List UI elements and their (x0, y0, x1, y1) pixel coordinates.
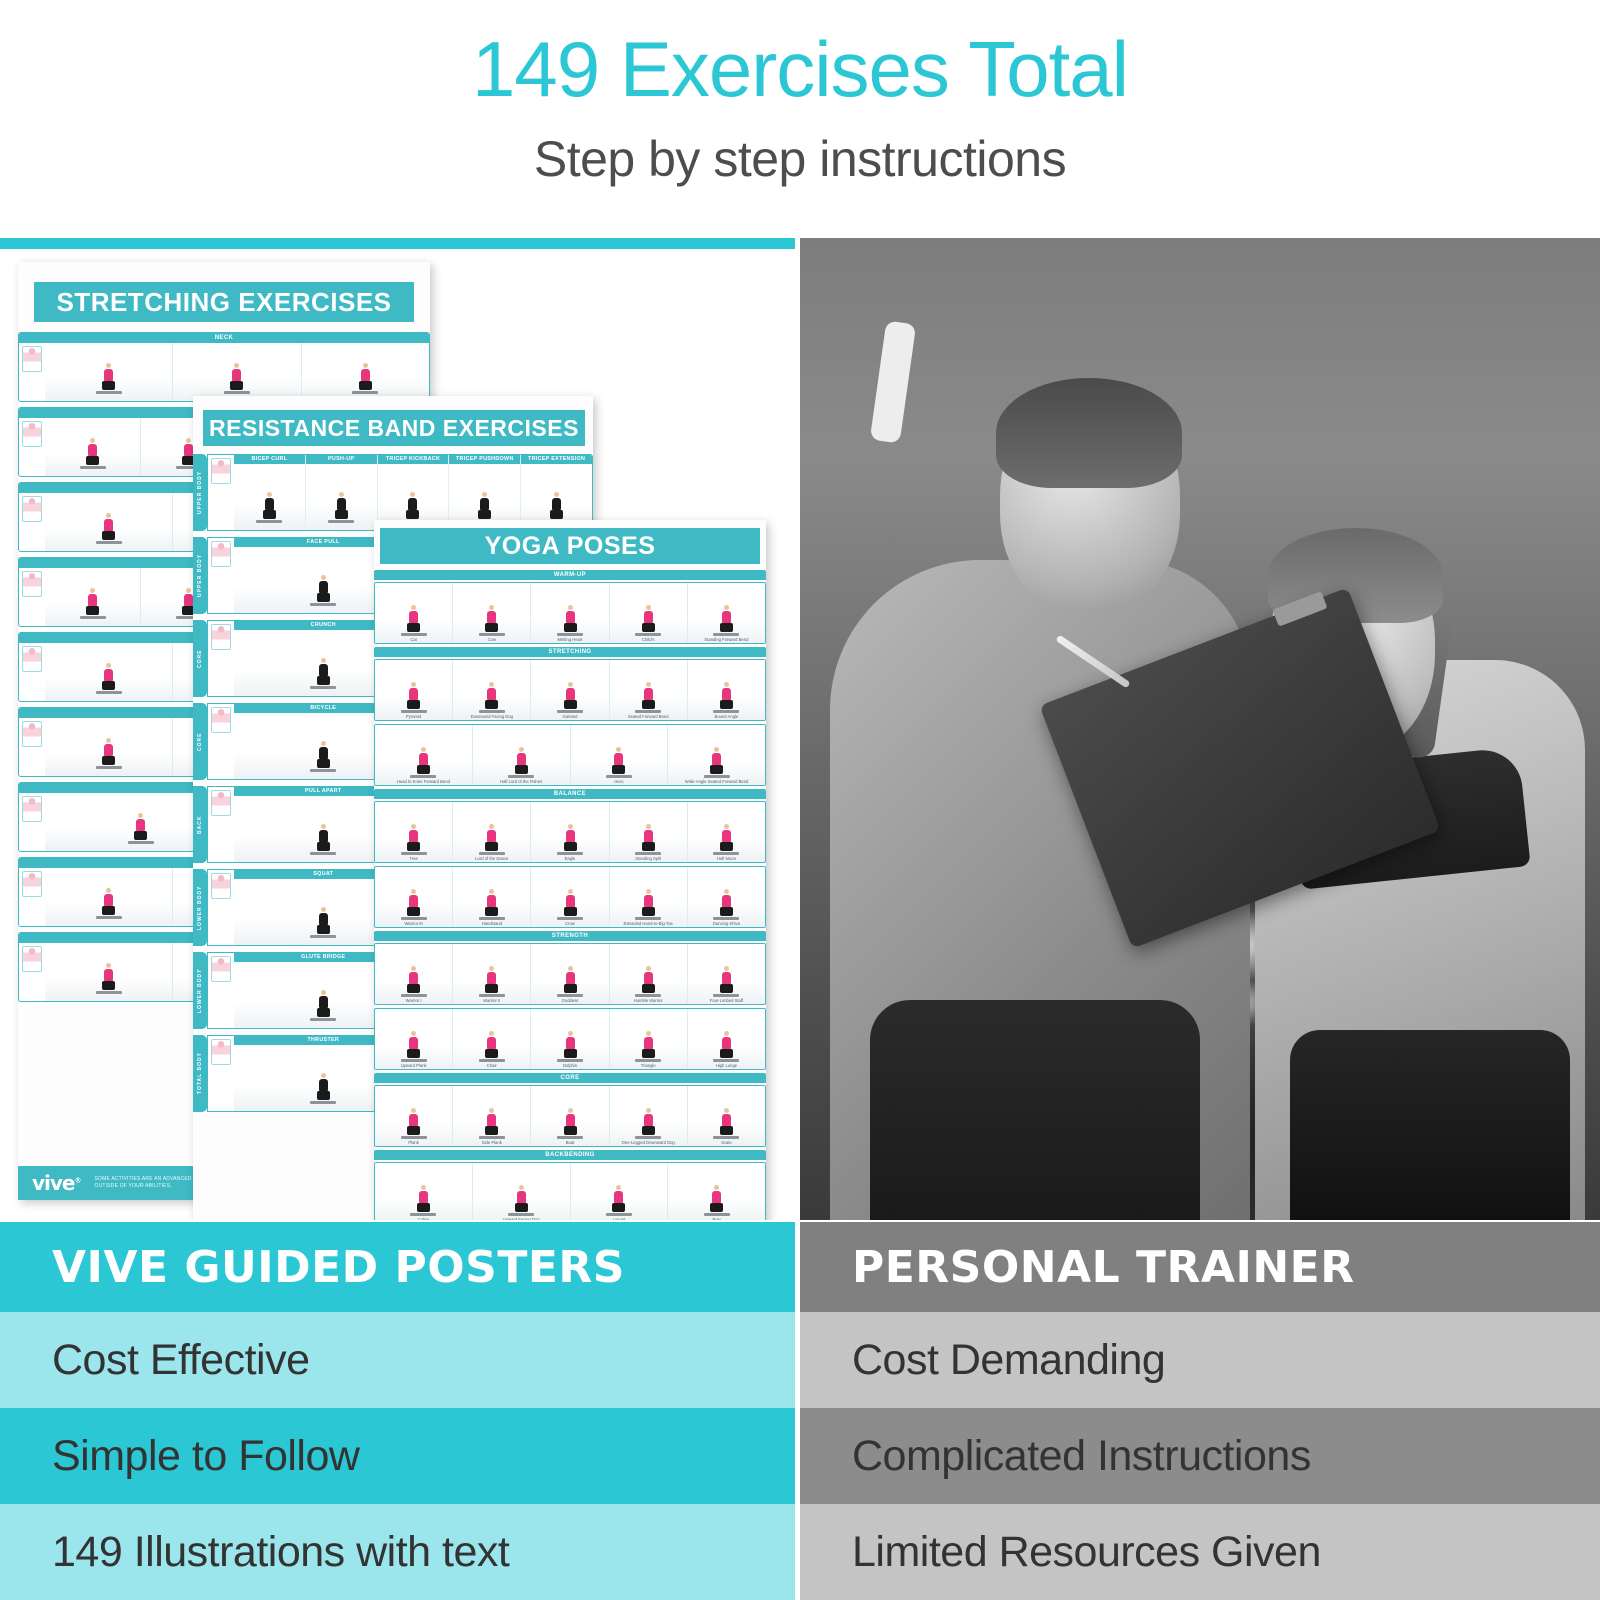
personal-trainer-photo (800, 238, 1600, 1220)
exercise-cell-label: Lord of the Dance (453, 856, 530, 861)
exercise-cell: Cow (453, 583, 531, 643)
exercise-figure-illustration (508, 747, 534, 778)
exercise-figure-illustration (635, 966, 661, 997)
exercise-cell-label: Melting Heart (531, 637, 608, 642)
exercise-figure-illustration (606, 747, 632, 778)
exercise-cell (45, 943, 173, 1001)
comparison-heading-vive: VIVE GUIDED POSTERS (0, 1222, 795, 1312)
exercise-cell-label: Cobra (375, 1217, 472, 1220)
exercise-figure-illustration (224, 363, 250, 394)
vive-logo-icon: vive® (18, 1171, 81, 1195)
exercise-figure-illustration (508, 1185, 534, 1216)
exercise-cell: Pyramid (375, 660, 453, 720)
exercise-cell (45, 568, 141, 626)
exercise-cell-label: Standing Split (610, 856, 687, 861)
poster-section-row: TreeLord of the DanceEagleStanding Split… (374, 801, 766, 863)
poster-category-tab: CORE (193, 703, 207, 780)
exercise-figure-illustration (557, 966, 583, 997)
poster-category-tab: LOWER BODY (193, 869, 207, 946)
exercise-cell-label: Half Moon (688, 856, 765, 861)
poster-category-tab: TOTAL BODY (193, 1035, 207, 1112)
exercise-cell-label: Upward Facing Dog (473, 1217, 570, 1220)
exercise-figure-illustration (401, 889, 427, 920)
exercise-figure-illustration (635, 605, 661, 636)
exercise-cell-label: One-Legged Downward Dog (610, 1140, 687, 1145)
exercise-cell: One-Legged Downward Dog (610, 1086, 688, 1146)
anatomy-diagram-icon (211, 1039, 231, 1065)
exercise-figure-illustration (704, 1185, 730, 1216)
exercise-cell: PUSH-UP (306, 455, 378, 530)
exercise-figure-illustration (96, 963, 122, 994)
exercise-cell: Dancing Shiva (688, 867, 765, 927)
exercise-figure-illustration (713, 1108, 739, 1139)
exercise-cell-label: Eagle (531, 856, 608, 861)
exercise-figure-illustration (328, 492, 354, 523)
exercise-cell-label: Head to Knee Forward Bend (375, 779, 472, 784)
comparison-row-vive-1: Cost Effective (0, 1312, 795, 1408)
exercise-cell: Bound Angle (688, 660, 765, 720)
panel-top-accent-bar (0, 238, 795, 249)
exercise-figure-illustration (96, 513, 122, 544)
exercise-cell-label: Hero (571, 779, 668, 784)
poster-section-label: STRENGTH (374, 931, 766, 941)
exercise-figure-illustration (400, 492, 426, 523)
exercise-figure-illustration (713, 966, 739, 997)
exercise-figure-illustration (401, 682, 427, 713)
comparison-column-vive: VIVE GUIDED POSTERS Cost Effective Simpl… (0, 1222, 795, 1600)
poster-title-stretching: STRETCHING EXERCISES (34, 282, 414, 322)
exercise-name-label: TRICEP PUSHDOWN (449, 455, 520, 464)
exercise-figure-illustration (544, 492, 570, 523)
exercise-cell: Side Plank (453, 1086, 531, 1146)
exercise-figure-illustration (401, 1031, 427, 1062)
exercise-figure-illustration (635, 682, 661, 713)
anatomy-diagram-icon (22, 496, 42, 522)
exercise-cell: Garland (531, 660, 609, 720)
exercise-cell: Head to Knee Forward Bend (375, 725, 473, 785)
exercise-figure-illustration (410, 1185, 436, 1216)
exercise-figure-illustration (557, 682, 583, 713)
poster-category-tab: UPPER BODY (193, 537, 207, 614)
exercise-figure-illustration (635, 1031, 661, 1062)
poster-section-label: BALANCE (374, 789, 766, 799)
exercise-figure-illustration (713, 605, 739, 636)
exercise-cell: BICEP CURL (234, 455, 306, 530)
exercise-figure-illustration (713, 682, 739, 713)
poster-section-label: STRETCHING (374, 647, 766, 657)
exercise-cell-label: Downward Facing Dog (453, 714, 530, 719)
poster-section-label: NECK (19, 333, 429, 343)
anatomy-diagram-icon (22, 796, 42, 822)
exercise-cell-label: Extended Hand-to-Big-Toe (610, 921, 687, 926)
poster-section-row: Warrior IWarrior IIGoddessHumble Warrior… (374, 943, 766, 1005)
anatomy-diagram-icon (211, 541, 231, 567)
exercise-cell-label: Pyramid (375, 714, 452, 719)
exercise-cell-label: Dolphin (531, 1063, 608, 1068)
exercise-cell (45, 418, 141, 476)
anatomy-diagram-icon (22, 646, 42, 672)
poster-section: NECK (18, 332, 430, 402)
comparison-table: VIVE GUIDED POSTERS Cost Effective Simpl… (0, 1222, 1600, 1600)
poster-section-row: Upward PlankChairDolphinTriangleHigh Lun… (374, 1008, 766, 1070)
exercise-cell: Humble Warrior (610, 944, 688, 1004)
poster-section-row: CatCowMelting HeartChild'sStanding Forwa… (374, 582, 766, 644)
exercise-figure-illustration (479, 605, 505, 636)
poster-title-resistance: RESISTANCE BAND EXERCISES (203, 410, 585, 446)
exercise-cell: Four-Limbed Staff (688, 944, 765, 1004)
poster-section-label: WARM-UP (374, 570, 766, 580)
gym-light-icon (870, 320, 916, 443)
comparison-row-vive-2: Simple to Follow (0, 1408, 795, 1504)
exercise-cell-label: Upward Plank (375, 1063, 452, 1068)
exercise-figure-illustration (256, 492, 282, 523)
exercise-cell: Scale (688, 1086, 765, 1146)
exercise-figure-illustration (557, 889, 583, 920)
exercise-cell-label: Boat (531, 1140, 608, 1145)
anatomy-diagram-icon (22, 346, 42, 372)
exercise-cell-label: Cat (375, 637, 452, 642)
exercise-cell-label: Dancing Shiva (688, 921, 765, 926)
product-comparison-infographic: 149 Exercises Total Step by step instruc… (0, 0, 1600, 1600)
exercise-figure-illustration (310, 1073, 336, 1104)
anatomy-diagram-icon (22, 946, 42, 972)
exercise-name-label: TRICEP EXTENSION (521, 455, 592, 464)
exercise-figure-illustration (635, 889, 661, 920)
exercise-figure-illustration (401, 966, 427, 997)
exercise-name-label: BICEP CURL (234, 455, 305, 464)
anatomy-diagram-icon (22, 871, 42, 897)
exercise-cell-label: Plank (375, 1140, 452, 1145)
poster-section-row: CobraUpward Facing DogLocustBow (374, 1162, 766, 1220)
comparison-heading-trainer: PERSONAL TRAINER (800, 1222, 1600, 1312)
exercise-cell-label: Goddess (531, 998, 608, 1003)
exercise-figure-illustration (479, 966, 505, 997)
exercise-figure-illustration (310, 824, 336, 855)
exercise-cell: Upward Facing Dog (473, 1163, 571, 1220)
exercise-cell: Cobra (375, 1163, 473, 1220)
exercise-cell-label: Warrior II (453, 998, 530, 1003)
poster-body-yoga: WARM-UPCatCowMelting HeartChild'sStandin… (374, 570, 766, 1220)
exercise-cell: Downward Facing Dog (453, 660, 531, 720)
exercise-cell-label: Child's (610, 637, 687, 642)
exercise-cell: Triangle (610, 1009, 688, 1069)
exercise-figure-illustration (606, 1185, 632, 1216)
exercise-cell-label: Humble Warrior (610, 998, 687, 1003)
exercise-cell: Extended Hand-to-Big-Toe (610, 867, 688, 927)
poster-title-yoga: YOGA POSES (380, 528, 760, 564)
exercise-name-label: PUSH-UP (306, 455, 377, 464)
exercise-figure-illustration (635, 1108, 661, 1139)
comparison-column-trainer: PERSONAL TRAINER Cost Demanding Complica… (800, 1222, 1600, 1600)
comparison-row-trainer-2: Complicated Instructions (800, 1408, 1600, 1504)
exercise-cell-label: Handstand (453, 921, 530, 926)
poster-section-row: Warrior IIIHandstandCrowExtended Hand-to… (374, 866, 766, 928)
exercise-cell: Warrior III (375, 867, 453, 927)
poster-section-row: PyramidDownward Facing DogGarlandSeated … (374, 659, 766, 721)
poster-category-tab: LOWER BODY (193, 952, 207, 1029)
exercise-cell: TRICEP EXTENSION (521, 455, 592, 530)
man-hair (996, 378, 1182, 488)
exercise-figure-illustration (472, 492, 498, 523)
exercise-cell-label: Garland (531, 714, 608, 719)
exercise-cell: Eagle (531, 802, 609, 862)
exercise-cell: Locust (571, 1163, 669, 1220)
exercise-figure-illustration (479, 824, 505, 855)
exercise-cell (45, 493, 173, 551)
exercise-cell-label: Triangle (610, 1063, 687, 1068)
exercise-figure-illustration (479, 1031, 505, 1062)
gym-photo-background (800, 238, 1600, 1220)
exercise-cell-label: Standing Forward Bend (688, 637, 765, 642)
exercise-cell: Plank (375, 1086, 453, 1146)
comparison-row-trainer-3: Limited Resources Given (800, 1504, 1600, 1600)
exercise-cell: Crow (531, 867, 609, 927)
comparison-row-vive-3: 149 Illustrations with text (0, 1504, 795, 1600)
exercise-cell-label: Bow (668, 1217, 765, 1220)
exercise-figure-illustration (80, 588, 106, 619)
poster-section-row: PlankSide PlankBoatOne-Legged Downward D… (374, 1085, 766, 1147)
exercise-figure-illustration (80, 438, 106, 469)
exercise-cell: Dolphin (531, 1009, 609, 1069)
exercise-figure-illustration (479, 889, 505, 920)
exercise-cell: Handstand (453, 867, 531, 927)
exercise-figure-illustration (713, 1031, 739, 1062)
exercise-figure-illustration (704, 747, 730, 778)
exercise-cell-label: Bound Angle (688, 714, 765, 719)
page-subtitle: Step by step instructions (0, 108, 1600, 188)
anatomy-diagram-icon (211, 707, 231, 733)
poster-yoga-poses[interactable]: YOGA POSES WARM-UPCatCowMelting HeartChi… (374, 520, 766, 1220)
exercise-figure-illustration (557, 1031, 583, 1062)
exercise-cell-label: Locust (571, 1217, 668, 1220)
anatomy-diagram-icon (211, 873, 231, 899)
exercise-figure-illustration (713, 824, 739, 855)
man-pants (870, 1000, 1200, 1220)
exercise-figure-illustration (635, 824, 661, 855)
exercise-figure-illustration (96, 888, 122, 919)
exercise-cell: Child's (610, 583, 688, 643)
exercise-cell: Lord of the Dance (453, 802, 531, 862)
poster-section-label: BACKBENDING (374, 1150, 766, 1160)
exercise-figure-illustration (713, 889, 739, 920)
exercise-figure-illustration (310, 907, 336, 938)
anatomy-diagram-icon (22, 421, 42, 447)
exercise-cell: TRICEP PUSHDOWN (449, 455, 521, 530)
exercise-cell-label: Seated Forward Bend (610, 714, 687, 719)
exercise-name-label: TRICEP KICKBACK (378, 455, 449, 464)
exercise-figure-illustration (410, 747, 436, 778)
exercise-cell-label: Scale (688, 1140, 765, 1145)
exercise-figure-illustration (310, 990, 336, 1021)
exercise-cell-label: Warrior I (375, 998, 452, 1003)
exercise-cell: Standing Split (610, 802, 688, 862)
posters-panel: STRETCHING EXERCISES NECKSHOULDER/ARMSSH… (0, 238, 795, 1220)
anatomy-diagram-icon (22, 571, 42, 597)
exercise-figure-illustration (96, 363, 122, 394)
poster-section-label: CORE (374, 1073, 766, 1083)
exercise-figure-illustration (401, 824, 427, 855)
page-title: 149 Exercises Total (0, 0, 1600, 108)
exercise-cell: Goddess (531, 944, 609, 1004)
exercise-cell (45, 868, 173, 926)
exercise-figure-illustration (557, 824, 583, 855)
exercise-cell (173, 343, 301, 401)
exercise-cell: Wide-Angle Seated Forward Bend (668, 725, 765, 785)
exercise-cell-label: Side Plank (453, 1140, 530, 1145)
anatomy-diagram-icon (211, 956, 231, 982)
exercise-cell-label: Crow (531, 921, 608, 926)
exercise-figure-illustration (310, 575, 336, 606)
exercise-cell (45, 643, 173, 701)
exercise-cell-label: High Lunge (688, 1063, 765, 1068)
exercise-cell: Standing Forward Bend (688, 583, 765, 643)
exercise-figure-illustration (479, 1108, 505, 1139)
exercise-figure-illustration (479, 682, 505, 713)
comparison-row-trainer-1: Cost Demanding (800, 1312, 1600, 1408)
exercise-cell (45, 718, 173, 776)
exercise-cell: Melting Heart (531, 583, 609, 643)
exercise-figure-illustration (96, 738, 122, 769)
exercise-cell-label: Half Lord of the Fishes (473, 779, 570, 784)
exercise-cell: Upward Plank (375, 1009, 453, 1069)
exercise-cell: Bow (668, 1163, 765, 1220)
exercise-cell: Warrior II (453, 944, 531, 1004)
exercise-cell: Chair (453, 1009, 531, 1069)
header: 149 Exercises Total Step by step instruc… (0, 0, 1600, 234)
exercise-cell: TRICEP KICKBACK (378, 455, 450, 530)
exercise-figure-illustration (401, 605, 427, 636)
exercise-cell-label: Cow (453, 637, 530, 642)
woman-shorts (1290, 1030, 1570, 1220)
exercise-cell: Tree (375, 802, 453, 862)
exercise-figure-illustration (310, 741, 336, 772)
exercise-cell-label: Four-Limbed Staff (688, 998, 765, 1003)
exercise-cell: Hero (571, 725, 669, 785)
exercise-cell: Seated Forward Bend (610, 660, 688, 720)
exercise-cell-label: Chair (453, 1063, 530, 1068)
exercise-cell: Boat (531, 1086, 609, 1146)
exercise-cell: Half Moon (688, 802, 765, 862)
exercise-cell: High Lunge (688, 1009, 765, 1069)
exercise-cell: Warrior I (375, 944, 453, 1004)
exercise-cell (45, 343, 173, 401)
exercise-cell-label: Tree (375, 856, 452, 861)
exercise-figure-illustration (128, 813, 154, 844)
exercise-figure-illustration (96, 663, 122, 694)
poster-category-tab: CORE (193, 620, 207, 697)
exercise-figure-illustration (557, 1108, 583, 1139)
exercise-figure-illustration (310, 658, 336, 689)
exercise-figure-illustration (352, 363, 378, 394)
poster-category-tab: BACK (193, 786, 207, 863)
exercise-cell-label: Warrior III (375, 921, 452, 926)
anatomy-diagram-icon (211, 790, 231, 816)
exercise-cell: Cat (375, 583, 453, 643)
exercise-cell (302, 343, 429, 401)
poster-section-row: Head to Knee Forward BendHalf Lord of th… (374, 724, 766, 786)
anatomy-diagram-icon (22, 721, 42, 747)
exercise-illustration (234, 464, 305, 530)
exercise-figure-illustration (401, 1108, 427, 1139)
exercise-cell-label: Wide-Angle Seated Forward Bend (668, 779, 765, 784)
anatomy-diagram-icon (211, 458, 231, 484)
exercise-illustration (306, 464, 377, 530)
anatomy-diagram-icon (211, 624, 231, 650)
poster-category-tab: UPPER BODY (193, 454, 207, 531)
exercise-figure-illustration (557, 605, 583, 636)
exercise-cell: Half Lord of the Fishes (473, 725, 571, 785)
